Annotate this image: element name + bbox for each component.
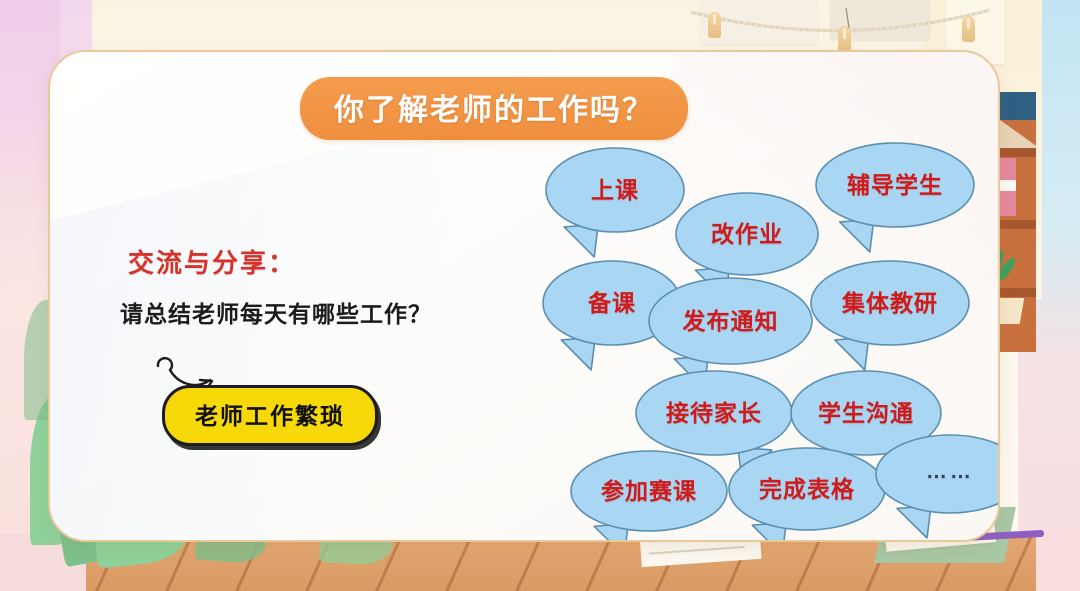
clothespin-icon [838, 26, 851, 52]
speech-bubble-shape [570, 450, 728, 542]
slide-title: 你了解老师的工作吗？ [300, 77, 688, 140]
speech-bubble: 参加赛课 [570, 450, 728, 532]
speech-bubble-shape [875, 434, 1000, 540]
speech-bubble-shape [815, 142, 975, 254]
floor-right-accent [1036, 533, 1080, 591]
prompt-question: 请总结老师每天有哪些工作？ [120, 295, 432, 329]
conclusion-badge: 老师工作繁琐 [162, 385, 378, 446]
speech-bubble: …… [875, 434, 1000, 514]
speech-bubble-shape [545, 147, 685, 259]
speech-bubble-shape [810, 260, 970, 372]
speech-bubble: 改作业 [675, 192, 819, 276]
speech-bubble: 发布通知 [648, 277, 813, 365]
speech-bubble: 完成表格 [728, 447, 886, 531]
speech-bubble-shape [728, 447, 886, 542]
speech-bubble: 上课 [545, 147, 685, 233]
share-label: 交流与分享： [128, 243, 296, 280]
slide-canvas: 上课改作业辅导学生备课发布通知集体教研接待家长学生沟通参加赛课完成表格…… 你了… [0, 0, 1080, 591]
speech-bubble: 辅导学生 [815, 142, 975, 228]
clothespin-icon [708, 12, 721, 38]
speech-bubble: 接待家长 [635, 370, 793, 456]
speech-bubble: 集体教研 [810, 260, 970, 346]
clothesline [690, 4, 990, 48]
clothespin-icon [962, 16, 975, 42]
